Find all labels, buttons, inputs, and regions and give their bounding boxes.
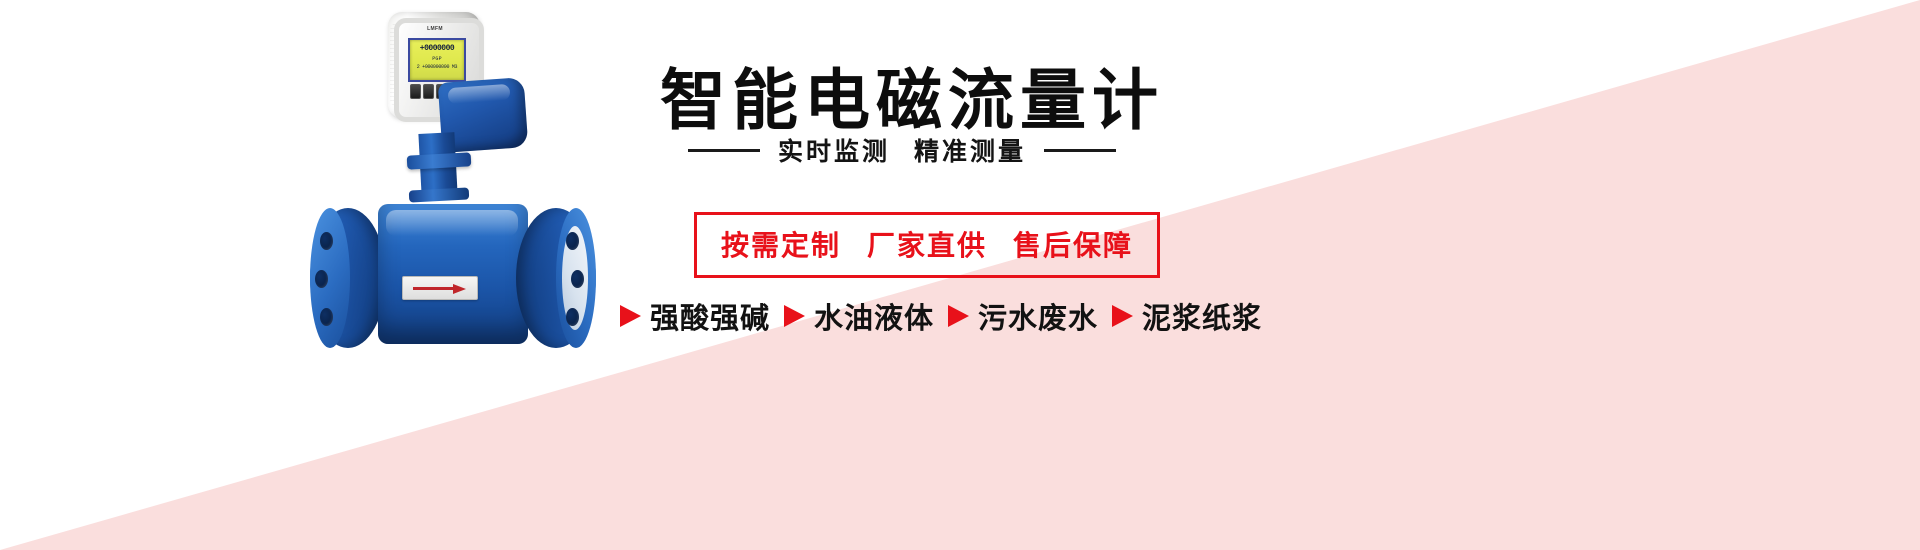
barrel-highlight <box>386 210 518 236</box>
subtitle-rule-left <box>688 149 760 152</box>
lcd-line-unit: PGP <box>410 57 464 62</box>
subtitle-text: 实时监测精准测量 <box>778 132 1026 168</box>
stem-flange-upper <box>407 152 472 169</box>
body-nameplate <box>402 276 478 300</box>
stem-flange-lower <box>409 187 470 202</box>
feature-item: 污水废水 <box>948 295 1098 337</box>
subtitle-rule-right <box>1044 149 1116 152</box>
product-banner: LMFM +0000000 PGP 2 +000000000 M3 <box>0 0 1920 550</box>
flange-bolt-hole <box>566 232 579 250</box>
feature-item: 泥浆纸浆 <box>1112 295 1262 337</box>
triangle-right-icon <box>784 305 805 327</box>
lcd-display: +0000000 PGP 2 +000000000 M3 <box>408 38 466 82</box>
lcd-line-accumulated: 2 +000000000 M3 <box>410 65 464 70</box>
triangle-right-icon <box>620 305 641 327</box>
promo-box-text: 按需定制厂家直供售后保障 <box>721 224 1133 264</box>
keypad-key <box>423 84 434 99</box>
feature-label: 泥浆纸浆 <box>1142 295 1262 337</box>
banner-content: 智能电磁流量计 实时监测精准测量 按需定制厂家直供售后保障 强酸强碱 水油液体 … <box>660 0 1760 550</box>
feature-item: 强酸强碱 <box>620 295 770 337</box>
subtitle-right: 精准测量 <box>914 138 1026 166</box>
banner-title: 智能电磁流量计 <box>660 47 1660 143</box>
triangle-right-icon <box>948 305 969 327</box>
flange-bolt-hole <box>315 270 328 288</box>
keypad-key <box>410 84 421 99</box>
feature-label: 污水废水 <box>978 295 1098 337</box>
promo-item-1: 厂家直供 <box>867 230 987 261</box>
flange-bolt-hole <box>566 308 579 326</box>
flange-bolt-hole <box>320 232 333 250</box>
flange-bolt-hole <box>320 308 333 326</box>
feature-list: 强酸强碱 水油液体 污水废水 泥浆纸浆 <box>620 295 1680 337</box>
subtitle-left: 实时监测 <box>778 138 890 166</box>
promo-item-0: 按需定制 <box>721 230 841 261</box>
promo-box: 按需定制厂家直供售后保障 <box>694 212 1160 278</box>
banner-subtitle: 实时监测精准测量 <box>688 132 1688 168</box>
product-image-flowmeter: LMFM +0000000 PGP 2 +000000000 M3 <box>290 8 630 408</box>
promo-item-2: 售后保障 <box>1013 230 1133 261</box>
triangle-right-icon <box>1112 305 1133 327</box>
flow-direction-arrow-icon <box>413 285 467 292</box>
feature-label: 强酸强碱 <box>650 295 770 337</box>
feature-label: 水油液体 <box>814 295 934 337</box>
device-brand-label: LMFM <box>408 26 462 32</box>
flange-bolt-hole <box>571 270 584 288</box>
lcd-line-total: +0000000 <box>410 45 464 53</box>
feature-item: 水油液体 <box>784 295 934 337</box>
